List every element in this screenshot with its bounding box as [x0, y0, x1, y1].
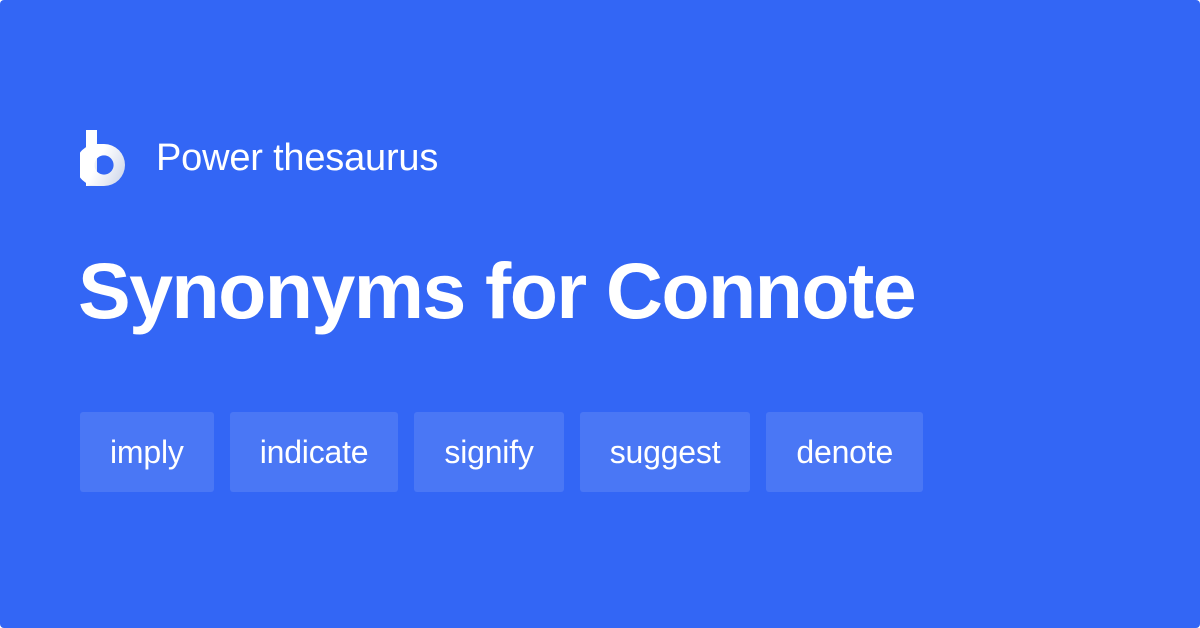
synonym-chip[interactable]: signify [414, 412, 563, 492]
synonym-chip[interactable]: suggest [580, 412, 751, 492]
page-title: Synonyms for Connote [78, 243, 915, 339]
brand-lockup[interactable]: Power thesaurus [80, 126, 438, 190]
synonym-chip[interactable]: indicate [230, 412, 399, 492]
synonym-chip[interactable]: imply [80, 412, 214, 492]
synonym-chip-list: imply indicate signify suggest denote [80, 412, 923, 492]
og-preview-card: Power thesaurus Synonyms for Connote imp… [0, 0, 1200, 628]
brand-name: Power thesaurus [156, 139, 438, 177]
synonym-chip[interactable]: denote [766, 412, 923, 492]
power-thesaurus-b-logo-icon [80, 130, 126, 186]
